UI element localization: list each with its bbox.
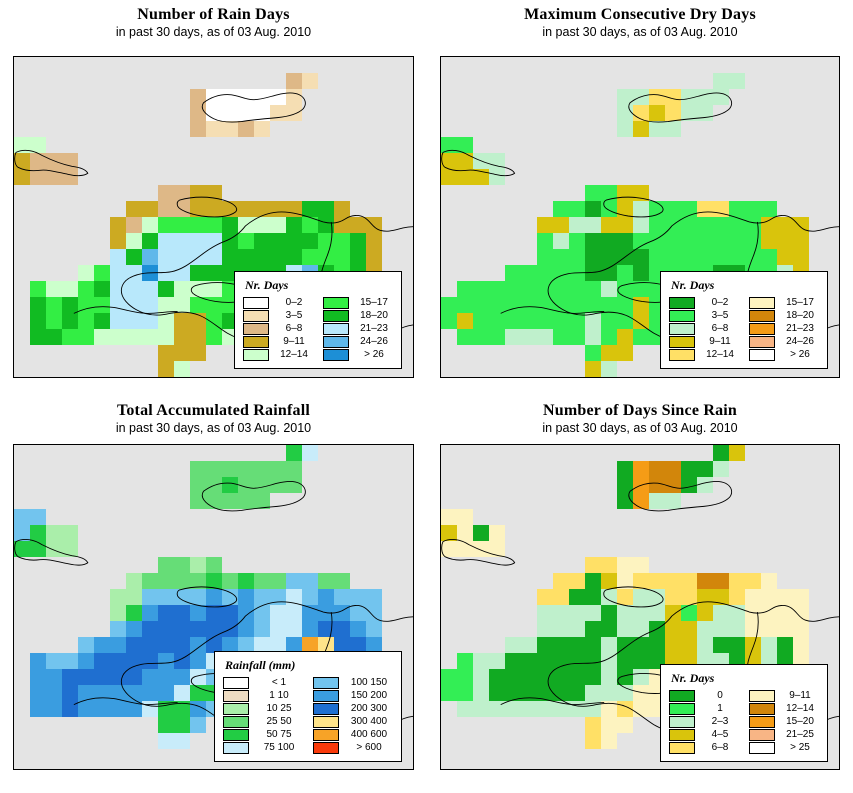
legend-label: 1 10: [255, 690, 303, 701]
legend-item: 400 600: [313, 728, 393, 741]
legend-item: 0: [669, 689, 739, 702]
legend-swatch: [669, 323, 695, 335]
panel-title: Maximum Consecutive Dry Days: [427, 0, 853, 23]
panel-subtitle: in past 30 days, as of 03 Aug. 2010: [427, 23, 853, 43]
legend-label: 18–20: [355, 310, 393, 321]
panel-title: Number of Days Since Rain: [427, 396, 853, 419]
legend-rain-days: Nr. Days 0–23–56–89–1112–1415–1718–2021–…: [234, 271, 402, 369]
legend-item: 50 75: [223, 728, 303, 741]
legend-label: 21–23: [781, 323, 819, 334]
legend-swatch: [243, 310, 269, 322]
legend-label: 12–14: [275, 349, 313, 360]
legend-swatch: [223, 742, 249, 754]
legend-label: 400 600: [345, 729, 393, 740]
legend-label: 3–5: [275, 310, 313, 321]
legend-label: 200 300: [345, 703, 393, 714]
panel-max-dry-days: Maximum Consecutive Dry Days in past 30 …: [427, 0, 853, 396]
panel-rain-days: Number of Rain Days in past 30 days, as …: [0, 0, 427, 396]
legend-swatch: [323, 336, 349, 348]
legend-label: > 25: [781, 742, 819, 753]
legend-item: > 600: [313, 741, 393, 754]
legend-item: 0–2: [669, 296, 739, 309]
legend-item: 24–26: [323, 335, 393, 348]
legend-item: 25 50: [223, 715, 303, 728]
legend-swatch: [669, 349, 695, 361]
legend-item: 24–26: [749, 335, 819, 348]
legend-item: 12–14: [243, 348, 313, 361]
legend-swatch: [243, 297, 269, 309]
panel-subtitle: in past 30 days, as of 03 Aug. 2010: [0, 419, 427, 439]
legend-label: > 26: [781, 349, 819, 360]
legend-item: 21–23: [749, 322, 819, 335]
legend-label: 2–3: [701, 716, 739, 727]
legend-label: 15–17: [781, 297, 819, 308]
legend-title: Nr. Days: [671, 278, 819, 293]
legend-swatch: [749, 310, 775, 322]
legend-column-right: 9–1112–1415–2021–25> 25: [749, 689, 819, 754]
legend-column-right: 15–1718–2021–2324–26> 26: [323, 296, 393, 361]
legend-item: 12–14: [749, 702, 819, 715]
legend-item: 21–25: [749, 728, 819, 741]
legend-column-right: 15–1718–2021–2324–26> 26: [749, 296, 819, 361]
legend-item: 9–11: [243, 335, 313, 348]
legend-title: Nr. Days: [245, 278, 393, 293]
legend-label: 150 200: [345, 690, 393, 701]
legend-column-left: 012–34–56–8: [669, 689, 739, 754]
legend-swatch: [749, 297, 775, 309]
panel-title: Number of Rain Days: [0, 0, 427, 23]
legend-item: 300 400: [313, 715, 393, 728]
legend-item: 1: [669, 702, 739, 715]
legend-item: > 25: [749, 741, 819, 754]
legend-swatch: [669, 690, 695, 702]
legend-swatch: [669, 297, 695, 309]
legend-swatch: [323, 310, 349, 322]
panel-title: Total Accumulated Rainfall: [0, 396, 427, 419]
legend-swatch: [669, 742, 695, 754]
legend-item: 12–14: [669, 348, 739, 361]
legend-swatch: [669, 729, 695, 741]
legend-swatch: [243, 336, 269, 348]
legend-item: 9–11: [669, 335, 739, 348]
legend-swatch: [313, 716, 339, 728]
legend-swatch: [749, 336, 775, 348]
legend-swatch: [323, 323, 349, 335]
legend-label: 6–8: [701, 742, 739, 753]
legend-label: 0: [701, 690, 739, 701]
legend-max-dry-days: Nr. Days 0–23–56–89–1112–1415–1718–2021–…: [660, 271, 828, 369]
legend-item: 15–17: [323, 296, 393, 309]
panel-total-rainfall: Total Accumulated Rainfall in past 30 da…: [0, 396, 427, 793]
legend-total-rainfall: Rainfall (mm) < 11 1010 2525 5050 7575 1…: [214, 651, 402, 762]
legend-label: 9–11: [275, 336, 313, 347]
legend-item: 200 300: [313, 702, 393, 715]
legend-label: 10 25: [255, 703, 303, 714]
legend-label: > 600: [345, 742, 393, 753]
legend-item: 15–20: [749, 715, 819, 728]
legend-label: 75 100: [255, 742, 303, 753]
legend-swatch: [669, 310, 695, 322]
legend-label: 25 50: [255, 716, 303, 727]
legend-days-since-rain: Nr. Days 012–34–56–89–1112–1415–2021–25>…: [660, 664, 828, 762]
legend-label: 21–23: [355, 323, 393, 334]
legend-swatch: [223, 729, 249, 741]
legend-item: 75 100: [223, 741, 303, 754]
legend-columns: 0–23–56–89–1112–1415–1718–2021–2324–26> …: [669, 296, 819, 361]
legend-column-right: 100 150150 200200 300300 400400 600> 600: [313, 676, 393, 754]
legend-swatch: [669, 703, 695, 715]
legend-swatch: [223, 716, 249, 728]
legend-columns: 0–23–56–89–1112–1415–1718–2021–2324–26> …: [243, 296, 393, 361]
map-rain-days[interactable]: Nr. Days 0–23–56–89–1112–1415–1718–2021–…: [13, 56, 414, 378]
legend-label: 3–5: [701, 310, 739, 321]
legend-item: 3–5: [669, 309, 739, 322]
legend-label: 24–26: [781, 336, 819, 347]
legend-label: 1: [701, 703, 739, 714]
legend-column-left: < 11 1010 2525 5050 7575 100: [223, 676, 303, 754]
figure-grid: Number of Rain Days in past 30 days, as …: [0, 0, 853, 793]
legend-item: 150 200: [313, 689, 393, 702]
legend-swatch: [749, 703, 775, 715]
legend-column-left: 0–23–56–89–1112–14: [243, 296, 313, 361]
legend-label: 21–25: [781, 729, 819, 740]
legend-item: 21–23: [323, 322, 393, 335]
legend-label: > 26: [355, 349, 393, 360]
legend-swatch: [313, 677, 339, 689]
legend-item: 0–2: [243, 296, 313, 309]
legend-label: 12–14: [701, 349, 739, 360]
legend-label: 100 150: [345, 677, 393, 688]
legend-label: 24–26: [355, 336, 393, 347]
legend-label: 12–14: [781, 703, 819, 714]
legend-label: 50 75: [255, 729, 303, 740]
legend-item: 3–5: [243, 309, 313, 322]
legend-swatch: [313, 729, 339, 741]
legend-item: 1 10: [223, 689, 303, 702]
legend-label: 9–11: [781, 690, 819, 701]
legend-item: 9–11: [749, 689, 819, 702]
legend-item: 10 25: [223, 702, 303, 715]
legend-title: Rainfall (mm): [225, 658, 393, 673]
legend-swatch: [749, 742, 775, 754]
legend-swatch: [669, 716, 695, 728]
legend-label: 18–20: [781, 310, 819, 321]
legend-columns: < 11 1010 2525 5050 7575 100100 150150 2…: [223, 676, 393, 754]
legend-label: 0–2: [701, 297, 739, 308]
legend-item: 6–8: [669, 322, 739, 335]
legend-item: 6–8: [243, 322, 313, 335]
legend-label: 4–5: [701, 729, 739, 740]
map-days-since-rain[interactable]: Nr. Days 012–34–56–89–1112–1415–2021–25>…: [440, 444, 840, 770]
legend-label: 15–20: [781, 716, 819, 727]
panel-subtitle: in past 30 days, as of 03 Aug. 2010: [0, 23, 427, 43]
legend-swatch: [749, 349, 775, 361]
legend-swatch: [749, 690, 775, 702]
legend-swatch: [749, 716, 775, 728]
panel-subtitle: in past 30 days, as of 03 Aug. 2010: [427, 419, 853, 439]
legend-columns: 012–34–56–89–1112–1415–2021–25> 25: [669, 689, 819, 754]
legend-swatch: [313, 703, 339, 715]
legend-swatch: [323, 349, 349, 361]
legend-swatch: [243, 323, 269, 335]
legend-item: > 26: [749, 348, 819, 361]
legend-label: 6–8: [275, 323, 313, 334]
legend-item: > 26: [323, 348, 393, 361]
legend-column-left: 0–23–56–89–1112–14: [669, 296, 739, 361]
legend-item: 100 150: [313, 676, 393, 689]
legend-item: 6–8: [669, 741, 739, 754]
legend-item: < 1: [223, 676, 303, 689]
legend-item: 2–3: [669, 715, 739, 728]
legend-swatch: [223, 690, 249, 702]
legend-item: 18–20: [749, 309, 819, 322]
legend-swatch: [223, 677, 249, 689]
legend-swatch: [323, 297, 349, 309]
map-max-dry-days[interactable]: Nr. Days 0–23–56–89–1112–1415–1718–2021–…: [440, 56, 840, 378]
legend-swatch: [749, 729, 775, 741]
legend-swatch: [243, 349, 269, 361]
legend-label: 15–17: [355, 297, 393, 308]
legend-item: 15–17: [749, 296, 819, 309]
legend-swatch: [749, 323, 775, 335]
legend-swatch: [313, 742, 339, 754]
legend-swatch: [313, 690, 339, 702]
map-total-rainfall[interactable]: Rainfall (mm) < 11 1010 2525 5050 7575 1…: [13, 444, 414, 770]
legend-swatch: [669, 336, 695, 348]
legend-label: 0–2: [275, 297, 313, 308]
legend-label: < 1: [255, 677, 303, 688]
panel-days-since-rain: Number of Days Since Rain in past 30 day…: [427, 396, 853, 793]
legend-item: 4–5: [669, 728, 739, 741]
legend-label: 6–8: [701, 323, 739, 334]
legend-title: Nr. Days: [671, 671, 819, 686]
legend-swatch: [223, 703, 249, 715]
legend-label: 9–11: [701, 336, 739, 347]
legend-item: 18–20: [323, 309, 393, 322]
legend-label: 300 400: [345, 716, 393, 727]
